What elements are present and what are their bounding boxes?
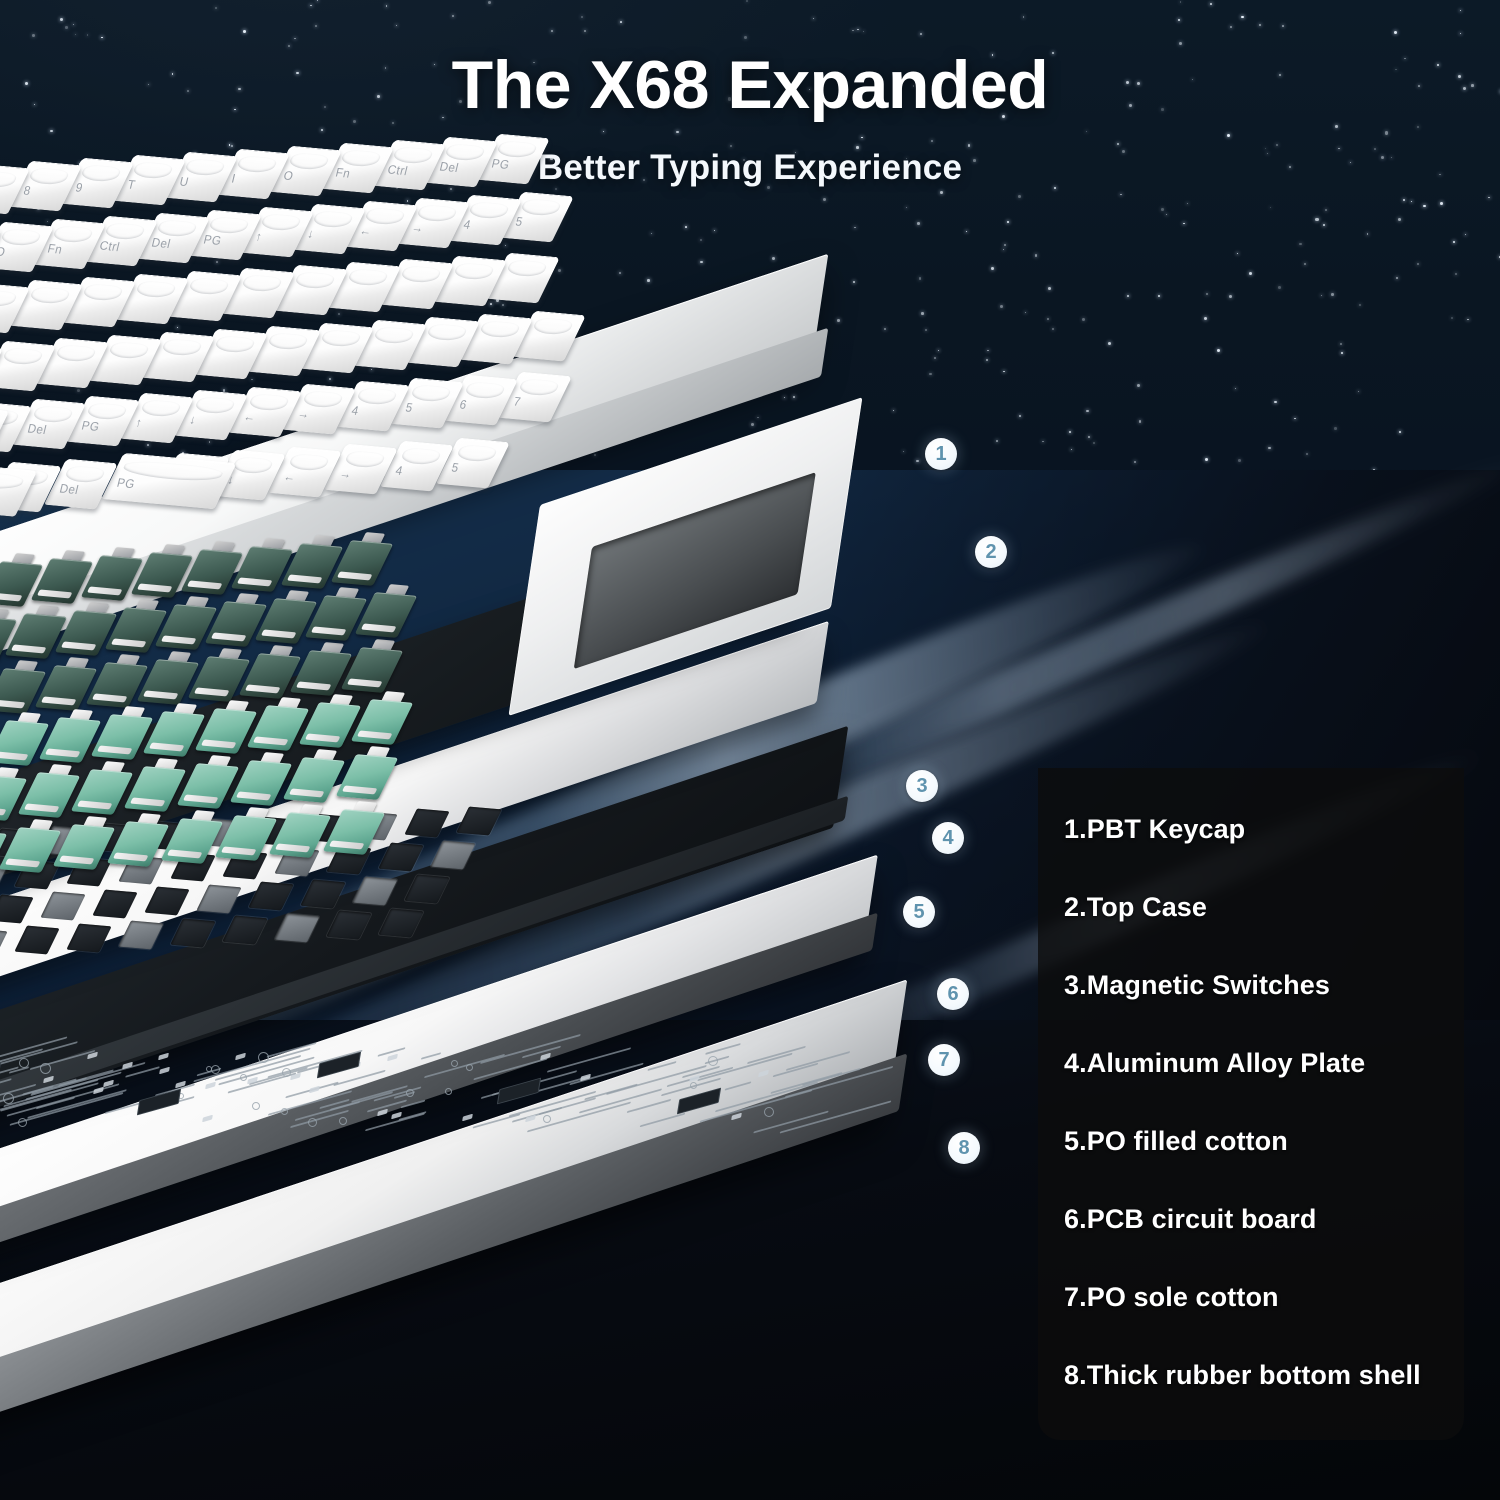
- keycap-legend: PG: [490, 156, 511, 172]
- keycap: PG: [101, 453, 236, 509]
- keycap-legend: 8: [22, 183, 32, 198]
- pbt-keycap-layer: 789TUIOFnCtrlDelPGOFnCtrlDelPG↑↓←→45FnCt…: [0, 175, 1000, 605]
- keycap-legend: PG: [80, 418, 101, 434]
- pcb-pad: [206, 1066, 212, 1072]
- keycap-legend: T: [126, 177, 137, 192]
- keycap-legend: 5: [514, 214, 524, 229]
- callout-badge-1[interactable]: 1: [925, 438, 957, 470]
- keycap-legend: 6: [458, 397, 468, 412]
- callout-badge-5[interactable]: 5: [903, 896, 935, 928]
- keycap-legend: Del: [150, 235, 172, 251]
- keycap-legend: Del: [58, 481, 80, 497]
- keycap-legend: Ctrl: [98, 238, 121, 254]
- keycap-legend: Fn: [334, 165, 352, 181]
- callout-badge-4[interactable]: 4: [932, 822, 964, 854]
- keycap-legend: 5: [450, 460, 460, 475]
- callout-badge-number: 1: [935, 443, 946, 466]
- keycap-legend: ←: [242, 409, 257, 424]
- infographic-canvas: The X68 Expanded Better Typing Experienc…: [0, 0, 1500, 1500]
- keycap-legend: →: [296, 406, 311, 421]
- legend-item-8: 8.Thick rubber bottom shell: [1064, 1356, 1464, 1434]
- keycap-legend: Del: [438, 159, 460, 175]
- legend-item-4: 4.Aluminum Alloy Plate: [1064, 1044, 1464, 1122]
- callout-badge-2[interactable]: 2: [975, 536, 1007, 568]
- pcb-pad: [690, 1082, 697, 1089]
- keycap-legend: 9: [74, 180, 84, 195]
- callout-badge-number: 7: [938, 1049, 949, 1072]
- callout-badge-number: 3: [916, 775, 927, 798]
- pcb-pad: [281, 1108, 288, 1115]
- callout-badge-8[interactable]: 8: [948, 1132, 980, 1164]
- pcb-pad: [3, 1093, 14, 1104]
- legend-item-2: 2.Top Case: [1064, 888, 1464, 966]
- keycap-legend: Del: [26, 421, 48, 437]
- legend-item-1: 1.PBT Keycap: [1064, 810, 1464, 888]
- callout-badge-number: 4: [942, 827, 953, 850]
- keycap-legend: ←: [358, 223, 373, 238]
- exploded-keyboard-diagram: 789TUIOFnCtrlDelPGOFnCtrlDelPG↑↓←→45FnCt…: [0, 175, 1060, 1455]
- keycap-legend: 4: [394, 463, 404, 478]
- keycap-legend: I: [230, 171, 237, 186]
- keycap-legend: U: [178, 174, 190, 189]
- callout-badge-3[interactable]: 3: [906, 770, 938, 802]
- keycap-legend: Fn: [46, 241, 64, 257]
- keycap-legend: PG: [116, 475, 137, 491]
- pcb-pad: [18, 1118, 27, 1127]
- pcb-pad: [240, 1074, 247, 1081]
- keycap-legend: →: [410, 220, 425, 235]
- pcb-pad: [308, 1118, 317, 1127]
- pcb-trace: [125, 1066, 159, 1077]
- pcb-pad: [445, 1088, 452, 1095]
- keycap-legend: O: [0, 244, 7, 259]
- legend-item-7: 7.PO sole cotton: [1064, 1278, 1464, 1356]
- keycap-legend: 7: [512, 394, 522, 409]
- keycap-legend: 5: [404, 400, 414, 415]
- keycap-legend: Ctrl: [386, 162, 409, 178]
- page-title: The X68 Expanded: [0, 46, 1500, 124]
- callout-badge-number: 5: [913, 901, 924, 924]
- callout-badge-7[interactable]: 7: [928, 1044, 960, 1076]
- pcb-pad: [211, 1065, 220, 1074]
- callout-badge-number: 2: [985, 541, 996, 564]
- keycap-legend: 4: [350, 403, 360, 418]
- pcb-pad: [19, 1058, 29, 1068]
- pcb-component: [462, 1114, 473, 1122]
- keycap-legend: ↑: [134, 415, 144, 430]
- legend-item-3: 3.Magnetic Switches: [1064, 966, 1464, 1044]
- pcb-pad: [252, 1102, 260, 1110]
- keycap-legend: PG: [202, 232, 223, 248]
- pcb-component: [93, 1087, 104, 1095]
- pcb-pad: [543, 1115, 551, 1123]
- keycap-legend: ↑: [254, 229, 264, 244]
- pcb-pad: [40, 1063, 51, 1074]
- callout-badge-number: 8: [958, 1137, 969, 1160]
- legend-item-6: 6.PCB circuit board: [1064, 1200, 1464, 1278]
- component-legend-panel: 1.PBT Keycap 2.Top Case 3.Magnetic Switc…: [1038, 768, 1464, 1440]
- legend-item-5: 5.PO filled cotton: [1064, 1122, 1464, 1200]
- pcb-component: [158, 1053, 169, 1061]
- pcb-pad: [764, 1107, 774, 1117]
- keycap-legend: →: [338, 466, 353, 481]
- pcb-component: [235, 1053, 246, 1061]
- pcb-pad: [708, 1056, 718, 1066]
- pcb-pad: [406, 1089, 414, 1097]
- callout-badge-6[interactable]: 6: [937, 978, 969, 1010]
- callout-badge-number: 6: [947, 983, 958, 1006]
- pcb-pad: [339, 1117, 347, 1125]
- keycap-legend: ↓: [306, 226, 316, 241]
- keycap-legend: ↓: [188, 412, 198, 427]
- pcb-chip: [497, 1078, 541, 1105]
- keycap-legend: 4: [462, 217, 472, 232]
- pcb-pad: [258, 1052, 269, 1063]
- pcb-pad: [282, 1068, 291, 1077]
- pcb-component: [159, 1067, 170, 1075]
- keycap-legend: O: [282, 168, 295, 183]
- keycap-legend: ←: [282, 469, 297, 484]
- pcb-pad: [466, 1064, 473, 1071]
- pcb-pad: [451, 1060, 458, 1067]
